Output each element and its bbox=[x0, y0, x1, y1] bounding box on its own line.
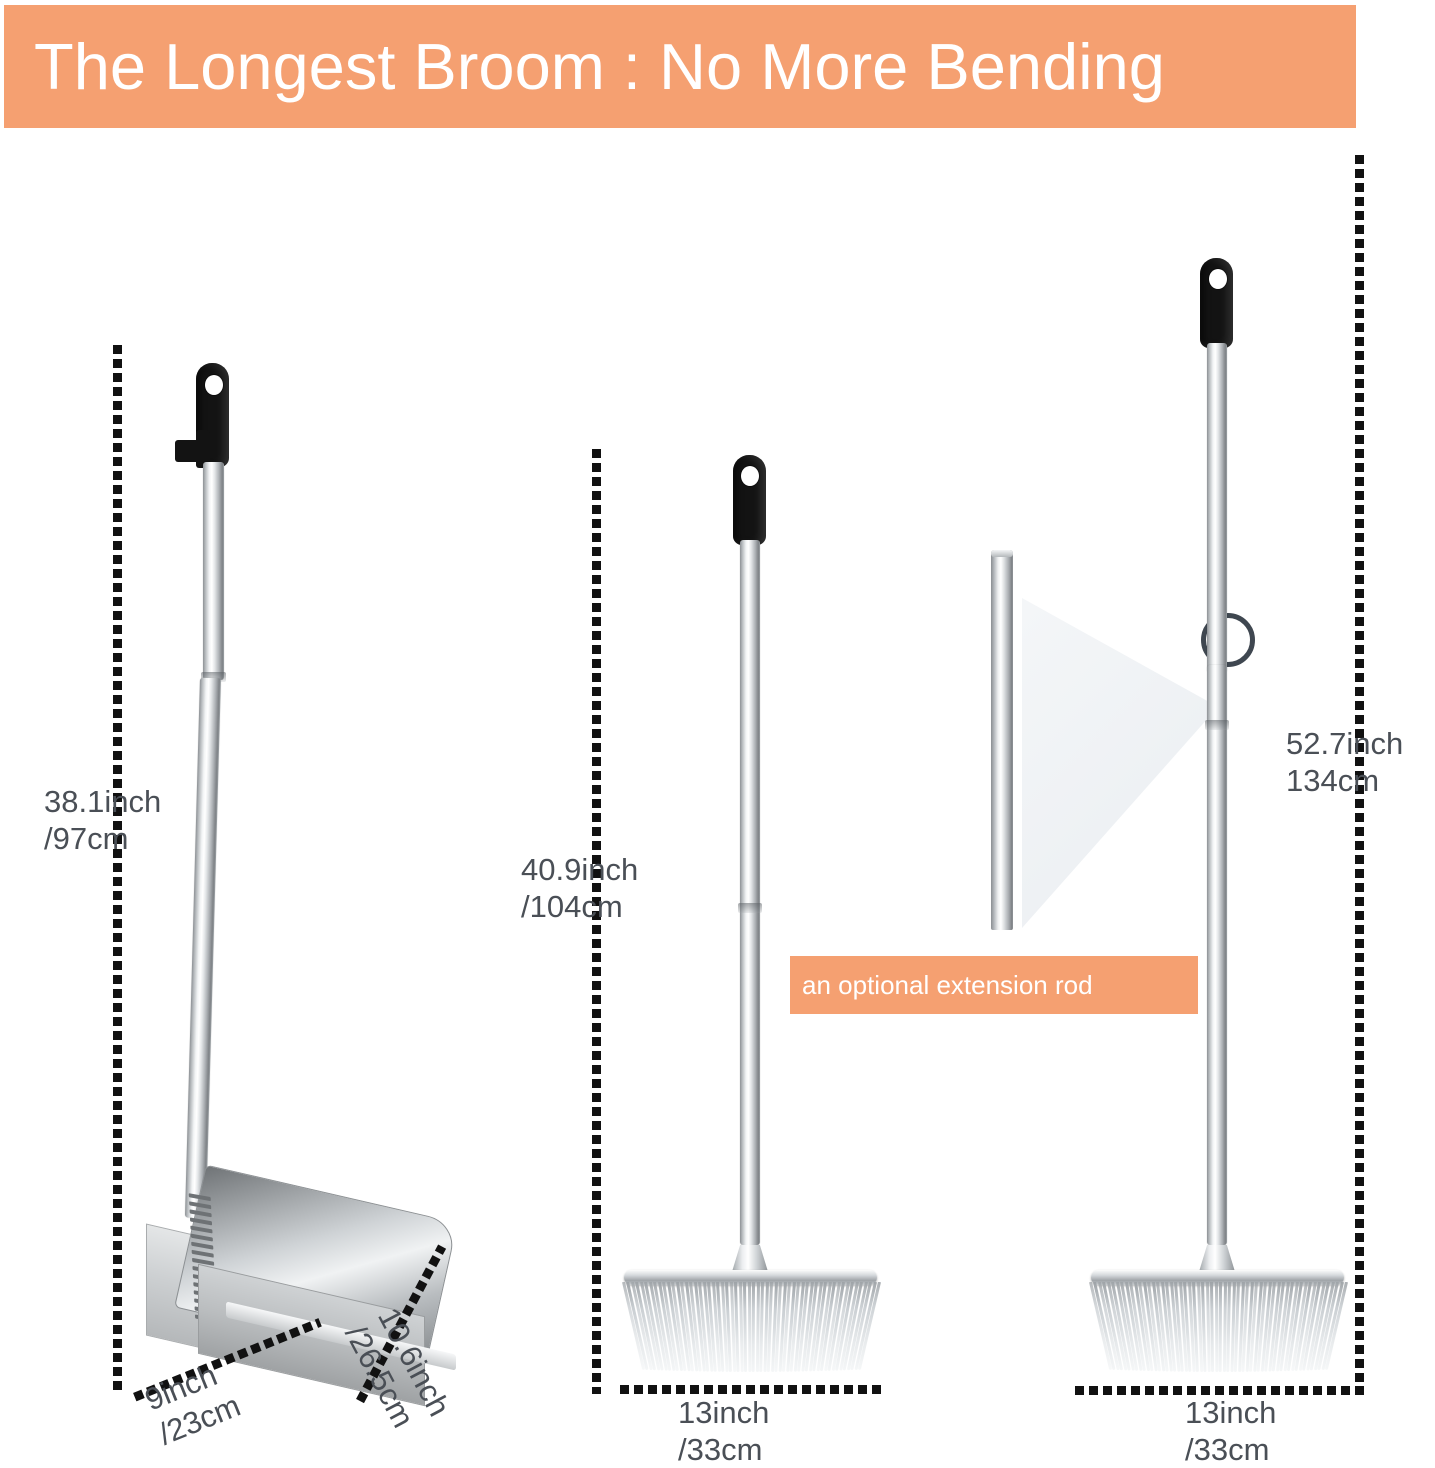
dustpan-height-dashline bbox=[113, 345, 122, 1391]
extended-broom-pole-upper bbox=[1207, 343, 1227, 673]
hang-hole-icon bbox=[741, 466, 759, 486]
standard-broom-height-label: 40.9inch /104cm bbox=[521, 852, 638, 925]
standard-broom-bristles bbox=[618, 1282, 884, 1372]
extension-rod-callout-label: an optional extension rod bbox=[790, 970, 1093, 1001]
extension-rod-cap bbox=[991, 550, 1013, 557]
extended-broom-pole-joint bbox=[1205, 720, 1229, 730]
dustpan-height-label: 38.1inch /97cm bbox=[44, 784, 161, 857]
extended-broom-width-label: 13inch /33cm bbox=[1185, 1395, 1276, 1468]
dustpan-upper-pole bbox=[203, 462, 224, 680]
banner-title: The Longest Broom : No More Bending bbox=[4, 34, 1165, 99]
extended-broom-pole-lower bbox=[1207, 665, 1227, 1245]
extended-broom-bristles bbox=[1085, 1282, 1351, 1372]
extension-rod bbox=[991, 550, 1013, 930]
hang-hole-icon bbox=[1209, 269, 1227, 289]
standard-broom-pole-joint bbox=[738, 903, 762, 913]
header-banner: The Longest Broom : No More Bending bbox=[4, 5, 1356, 128]
standard-broom-width-label: 13inch /33cm bbox=[678, 1395, 769, 1468]
standard-broom-width-dashline bbox=[620, 1385, 886, 1394]
dustpan-height-top-tick bbox=[113, 345, 122, 354]
callout-cone bbox=[1022, 598, 1218, 928]
infographic-canvas: The Longest Broom : No More Bending bbox=[0, 0, 1435, 1468]
extended-broom-height-label: 52.7inch 134cm bbox=[1286, 726, 1403, 799]
dustpan-lower-pole bbox=[185, 678, 221, 1218]
hang-hole-icon bbox=[205, 375, 223, 395]
extended-broom-width-dashline bbox=[1075, 1386, 1360, 1395]
extension-rod-callout: an optional extension rod bbox=[790, 956, 1198, 1014]
standard-broom-pole bbox=[740, 540, 760, 1245]
